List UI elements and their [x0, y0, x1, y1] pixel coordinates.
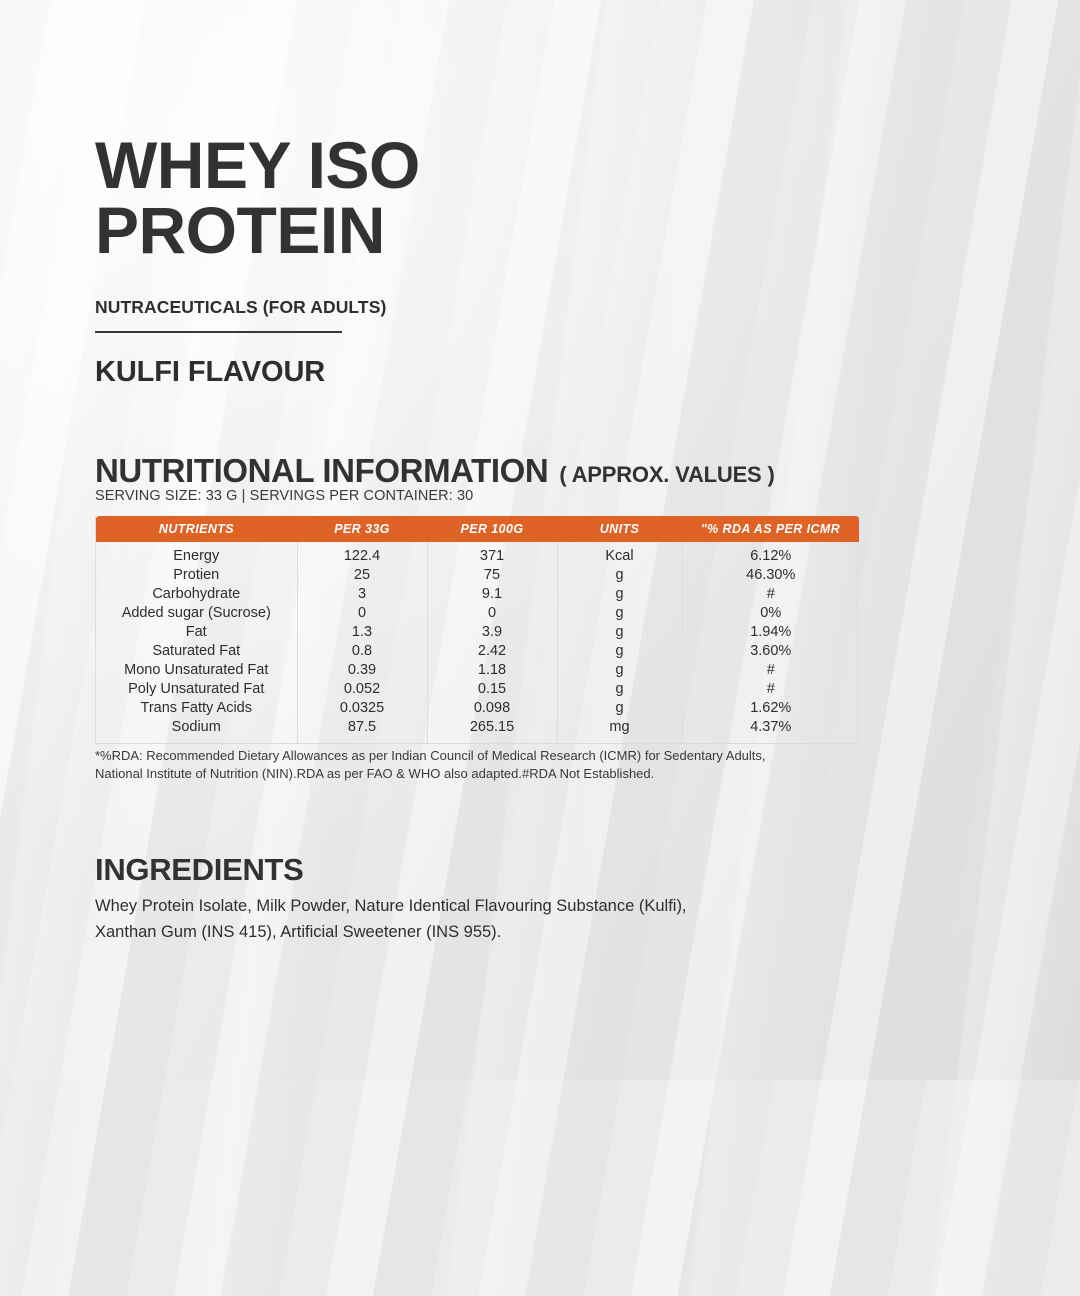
rda-footnote: *%RDA: Recommended Dietary Allowances as…	[95, 747, 795, 784]
nutrition-table-head: NUTRIENTS PER 33G PER 100G UNITS "% RDA …	[96, 516, 859, 542]
cell-per-100g: 0	[427, 604, 557, 623]
cell-rda: 0%	[682, 604, 859, 623]
table-row: Energy122.4371Kcal6.12%	[96, 542, 859, 566]
table-row: Trans Fatty Acids0.03250.098g1.62%	[96, 699, 859, 718]
cell-units: mg	[557, 718, 682, 743]
cell-per-33g: 87.5	[297, 718, 427, 743]
cell-per-100g: 265.15	[427, 718, 557, 743]
cell-per-100g: 371	[427, 542, 557, 566]
cell-units: g	[557, 699, 682, 718]
cell-rda: 1.62%	[682, 699, 859, 718]
col-header-per-33g: PER 33G	[297, 516, 427, 542]
cell-per-33g: 1.3	[297, 623, 427, 642]
cell-per-100g: 1.18	[427, 661, 557, 680]
cell-nutrient: Carbohydrate	[96, 585, 297, 604]
table-header-row: NUTRIENTS PER 33G PER 100G UNITS "% RDA …	[96, 516, 859, 542]
table-row: Mono Unsaturated Fat0.391.18g#	[96, 661, 859, 680]
cell-per-33g: 0	[297, 604, 427, 623]
cell-rda: 6.12%	[682, 542, 859, 566]
cell-nutrient: Fat	[96, 623, 297, 642]
table-row: Carbohydrate39.1g#	[96, 585, 859, 604]
cell-rda: 4.37%	[682, 718, 859, 743]
product-title: WHEY ISO PROTEIN	[95, 133, 715, 264]
table-row: Saturated Fat0.82.42g3.60%	[96, 642, 859, 661]
serving-size-line: SERVING SIZE: 33 G | SERVINGS PER CONTAI…	[95, 488, 473, 504]
cell-units: Kcal	[557, 542, 682, 566]
col-header-per-100g: PER 100G	[427, 516, 557, 542]
col-header-units: UNITS	[557, 516, 682, 542]
cell-units: g	[557, 680, 682, 699]
cell-per-100g: 9.1	[427, 585, 557, 604]
product-category: NUTRACEUTICALS (FOR ADULTS)	[95, 297, 386, 318]
col-header-rda: "% RDA AS PER ICMR	[682, 516, 859, 542]
cell-per-33g: 0.8	[297, 642, 427, 661]
product-flavour: KULFI FLAVOUR	[95, 356, 325, 389]
ingredients-heading: INGREDIENTS	[95, 852, 304, 888]
cell-per-33g: 0.052	[297, 680, 427, 699]
header-divider	[95, 331, 342, 333]
cell-per-33g: 3	[297, 585, 427, 604]
cell-units: g	[557, 642, 682, 661]
cell-rda: #	[682, 585, 859, 604]
nutrition-table-body: Energy122.4371Kcal6.12%Protien2575g46.30…	[96, 542, 859, 743]
nutrition-table: NUTRIENTS PER 33G PER 100G UNITS "% RDA …	[96, 516, 859, 743]
cell-rda: 1.94%	[682, 623, 859, 642]
table-row: Added sugar (Sucrose)00g0%	[96, 604, 859, 623]
cell-per-100g: 3.9	[427, 623, 557, 642]
cell-nutrient: Sodium	[96, 718, 297, 743]
ingredients-text: Whey Protein Isolate, Milk Powder, Natur…	[95, 893, 745, 946]
cell-per-33g: 25	[297, 566, 427, 585]
cell-rda: #	[682, 680, 859, 699]
label-page: WHEY ISO PROTEIN NUTRACEUTICALS (FOR ADU…	[0, 0, 1080, 1080]
cell-per-100g: 2.42	[427, 642, 557, 661]
nutrition-heading-main: NUTRITIONAL INFORMATION	[95, 452, 548, 490]
table-row: Poly Unsaturated Fat0.0520.15g#	[96, 680, 859, 699]
cell-units: g	[557, 585, 682, 604]
cell-nutrient: Added sugar (Sucrose)	[96, 604, 297, 623]
table-row: Fat1.33.9g1.94%	[96, 623, 859, 642]
nutrition-heading-approx: ( APPROX. VALUES )	[559, 462, 774, 488]
cell-nutrient: Protien	[96, 566, 297, 585]
cell-rda: 46.30%	[682, 566, 859, 585]
cell-units: g	[557, 661, 682, 680]
cell-units: g	[557, 604, 682, 623]
cell-nutrient: Saturated Fat	[96, 642, 297, 661]
cell-rda: #	[682, 661, 859, 680]
cell-nutrient: Poly Unsaturated Fat	[96, 680, 297, 699]
cell-per-33g: 0.0325	[297, 699, 427, 718]
nutrition-table-wrapper: NUTRIENTS PER 33G PER 100G UNITS "% RDA …	[95, 516, 858, 744]
cell-per-100g: 0.15	[427, 680, 557, 699]
cell-units: g	[557, 623, 682, 642]
table-row: Protien2575g46.30%	[96, 566, 859, 585]
cell-nutrient: Mono Unsaturated Fat	[96, 661, 297, 680]
cell-rda: 3.60%	[682, 642, 859, 661]
cell-nutrient: Energy	[96, 542, 297, 566]
cell-nutrient: Trans Fatty Acids	[96, 699, 297, 718]
table-row: Sodium87.5265.15mg4.37%	[96, 718, 859, 743]
cell-per-33g: 0.39	[297, 661, 427, 680]
col-header-nutrients: NUTRIENTS	[96, 516, 297, 542]
cell-per-33g: 122.4	[297, 542, 427, 566]
nutrition-heading: NUTRITIONAL INFORMATION ( APPROX. VALUES…	[95, 452, 775, 490]
cell-per-100g: 0.098	[427, 699, 557, 718]
cell-per-100g: 75	[427, 566, 557, 585]
cell-units: g	[557, 566, 682, 585]
